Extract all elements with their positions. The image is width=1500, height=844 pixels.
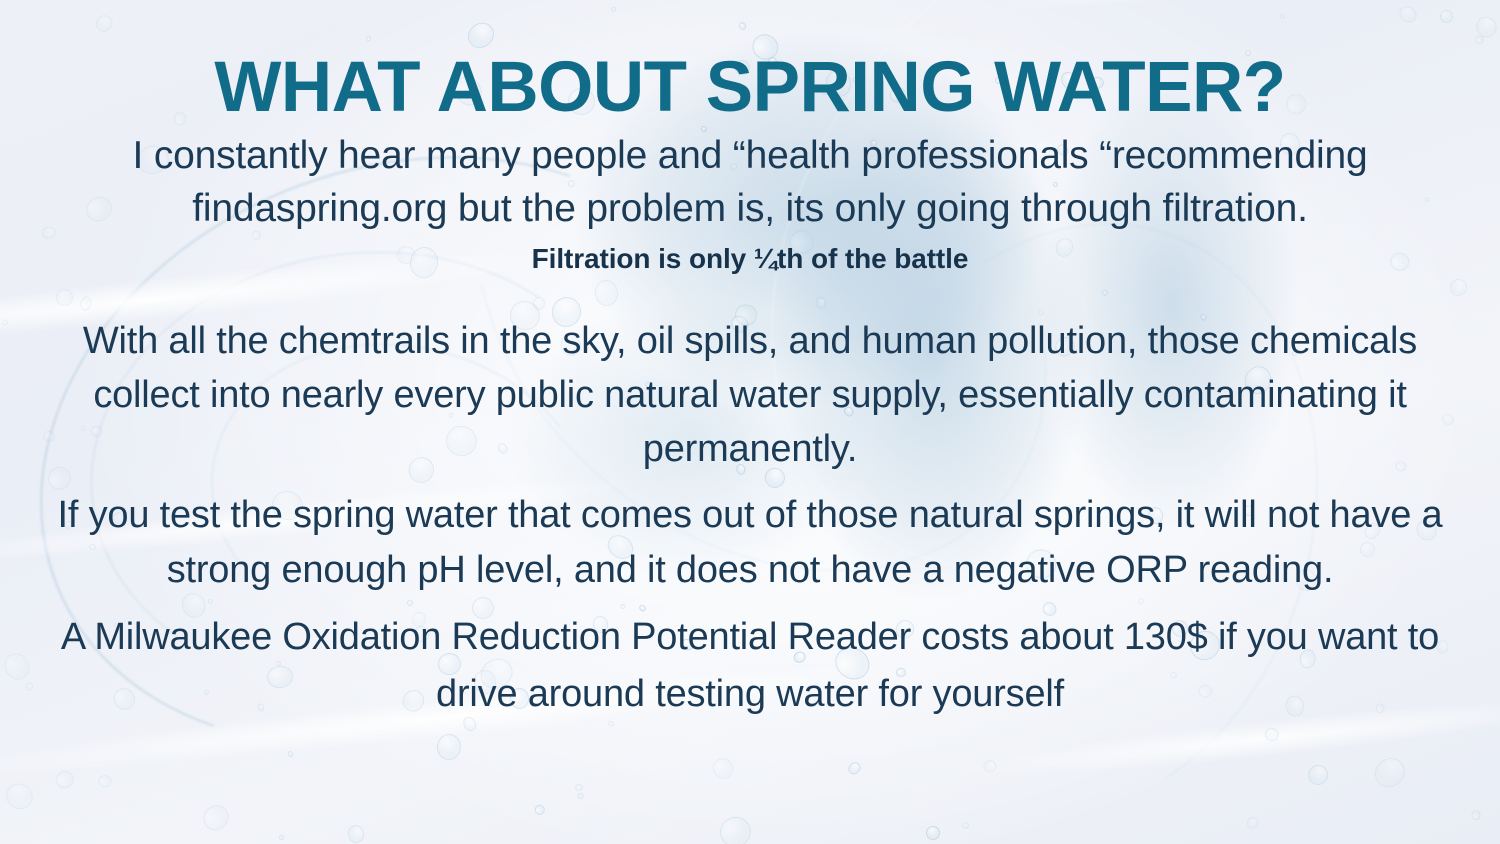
body-paragraph-1: With all the chemtrails in the sky, oil …	[26, 314, 1474, 477]
page-title: WHAT ABOUT SPRING WATER?	[26, 0, 1474, 124]
slide-canvas: WHAT ABOUT SPRING WATER? I constantly he…	[0, 0, 1500, 844]
body-paragraph-2: If you test the spring water that comes …	[26, 488, 1474, 597]
slide-content: WHAT ABOUT SPRING WATER? I constantly he…	[0, 0, 1500, 844]
intro-paragraph: I constantly hear many people and “healt…	[26, 130, 1474, 235]
emphasis-line: Filtration is only ¼th of the battle	[26, 242, 1474, 276]
body-paragraph-3: A Milwaukee Oxidation Reduction Potentia…	[26, 609, 1474, 723]
